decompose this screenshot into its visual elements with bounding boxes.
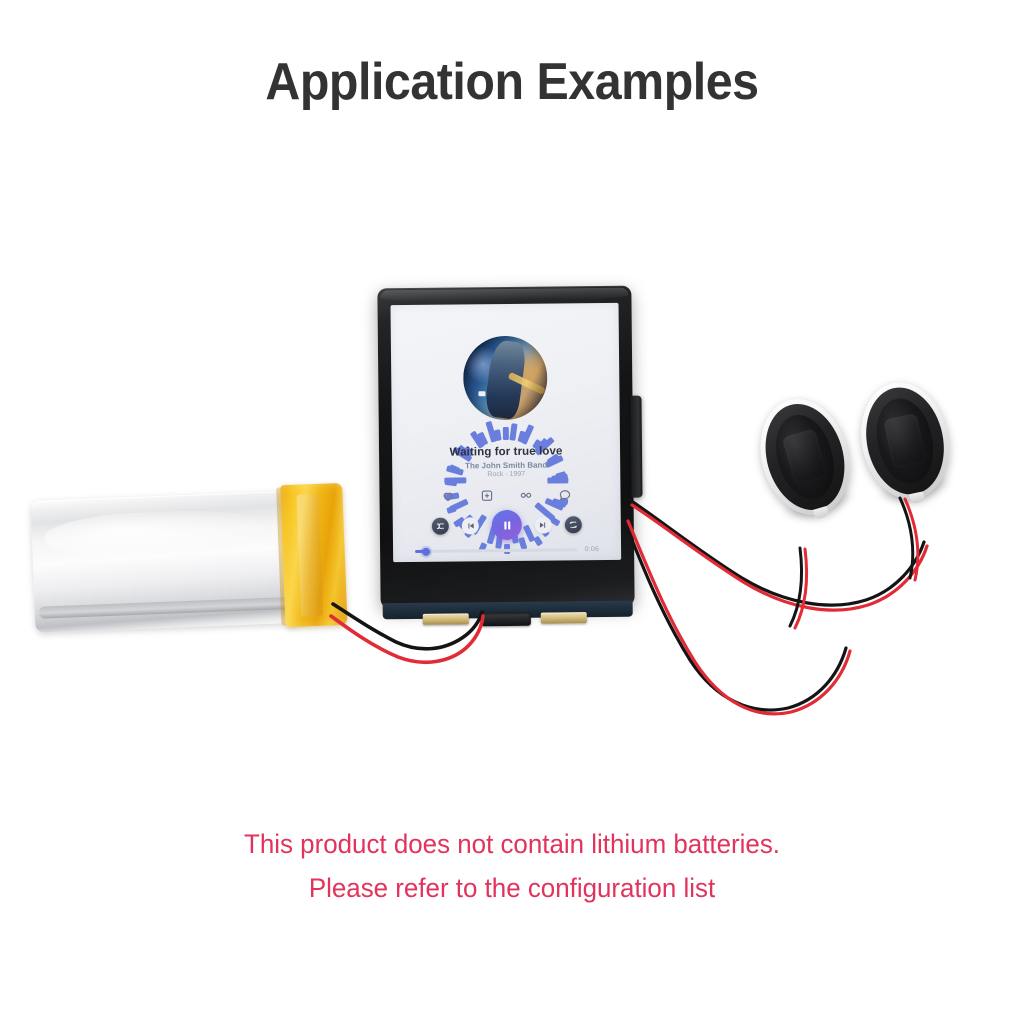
speaker-left <box>747 388 862 525</box>
battery-highlight <box>43 508 275 561</box>
speaker-left-tail-negative <box>790 548 802 626</box>
previous-track-button[interactable] <box>462 517 479 534</box>
progress-bar[interactable]: 0:06 <box>415 546 599 555</box>
progress-knob[interactable] <box>422 547 430 555</box>
speaker-left-dome <box>782 428 828 485</box>
speaker-right-ring <box>857 380 954 501</box>
favorite-icon[interactable] <box>440 489 455 504</box>
track-meta: Rock - 1997 <box>392 470 620 479</box>
speaker-wire-1-positive <box>628 521 850 714</box>
speaker-right-terminal-tab <box>909 491 925 504</box>
track-title: Waiting for true love <box>392 445 620 459</box>
disclaimer-line-2: Please refer to the configuration list <box>20 866 1003 910</box>
speaker-left-tail-positive <box>795 549 807 628</box>
disclaimer-line-1: This product does not contain lithium ba… <box>20 822 1003 866</box>
battery-kapton-tape <box>280 483 347 627</box>
progress-track[interactable] <box>415 548 577 553</box>
lithium-polymer-battery <box>30 481 342 643</box>
share-icon[interactable] <box>518 488 533 503</box>
elapsed-time: 0:06 <box>585 546 600 553</box>
next-track-button[interactable] <box>535 516 552 533</box>
disclaimer: This product does not contain lithium ba… <box>20 822 1003 910</box>
speaker-right-tail-positive <box>905 499 918 580</box>
action-icon-row <box>392 487 620 504</box>
speaker-right <box>851 374 960 507</box>
speaker-left-cone <box>767 408 843 506</box>
playback-controls <box>393 509 621 541</box>
jst-connector-left <box>423 613 469 624</box>
device-side-tab <box>630 396 642 498</box>
speaker-wire-1-negative <box>624 520 846 710</box>
speaker-right-dome <box>883 413 927 469</box>
album-artwork-light <box>479 392 486 397</box>
album-art-area <box>443 315 568 440</box>
speaker-right-tail-negative <box>900 498 913 578</box>
speaker-right-cone <box>870 393 941 488</box>
shuffle-button[interactable] <box>432 517 449 534</box>
play-pause-button[interactable] <box>492 510 522 540</box>
playlist-add-icon[interactable] <box>479 488 494 503</box>
device-screen: Waiting for true love The John Smith Ban… <box>391 303 622 562</box>
battery-seam <box>39 597 295 619</box>
jst-connector-right <box>541 612 587 623</box>
repeat-button[interactable] <box>565 516 582 533</box>
comment-icon[interactable] <box>557 487 572 502</box>
usb-c-port <box>481 612 531 627</box>
battery-body <box>31 491 304 633</box>
album-artwork <box>463 336 548 421</box>
speaker-left-terminal-tab <box>813 506 829 519</box>
display-module: Waiting for true love The John Smith Ban… <box>377 286 634 609</box>
